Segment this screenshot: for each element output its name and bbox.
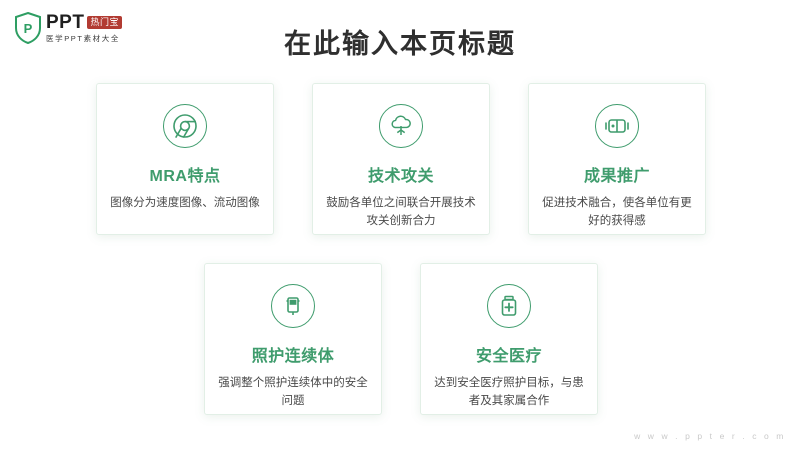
card-description: 强调整个照护连续体中的安全问题 (218, 375, 368, 411)
page-title: 在此输入本页标题 (0, 22, 800, 61)
card-safety[interactable]: 安全医疗 达到安全医疗照护目标，与患者及其家属合作 (420, 263, 598, 415)
cloud-tree-icon (379, 104, 423, 148)
watermark: w w w . p p t e r . c o m (634, 431, 786, 441)
card-tech[interactable]: 技术攻关 鼓励各单位之间联合开展技术攻关创新合力 (312, 83, 490, 235)
card-title: MRA特点 (150, 162, 221, 186)
card-description: 鼓励各单位之间联合开展技术攻关创新合力 (326, 195, 476, 231)
card-title: 技术攻关 (368, 162, 434, 186)
card-title: 安全医疗 (476, 342, 542, 366)
chrome-circle-icon (163, 104, 207, 148)
card-continuum[interactable]: 照护连续体 强调整个照护连续体中的安全问题 (204, 263, 382, 415)
card-description: 图像分为速度图像、流动图像 (110, 195, 260, 213)
card-mra[interactable]: MRA特点 图像分为速度图像、流动图像 (96, 83, 274, 235)
card-description: 达到安全医疗照护目标，与患者及其家属合作 (434, 375, 584, 411)
medicine-bottle-icon (487, 284, 531, 328)
card-promotion[interactable]: 成果推广 促进技术融合，使各单位有更好的获得感 (528, 83, 706, 235)
card-description: 促进技术融合，使各单位有更好的获得感 (542, 195, 692, 231)
card-title: 照护连续体 (252, 342, 335, 366)
iv-drip-icon (271, 284, 315, 328)
card-title: 成果推广 (584, 162, 650, 186)
capsule-icon (595, 104, 639, 148)
